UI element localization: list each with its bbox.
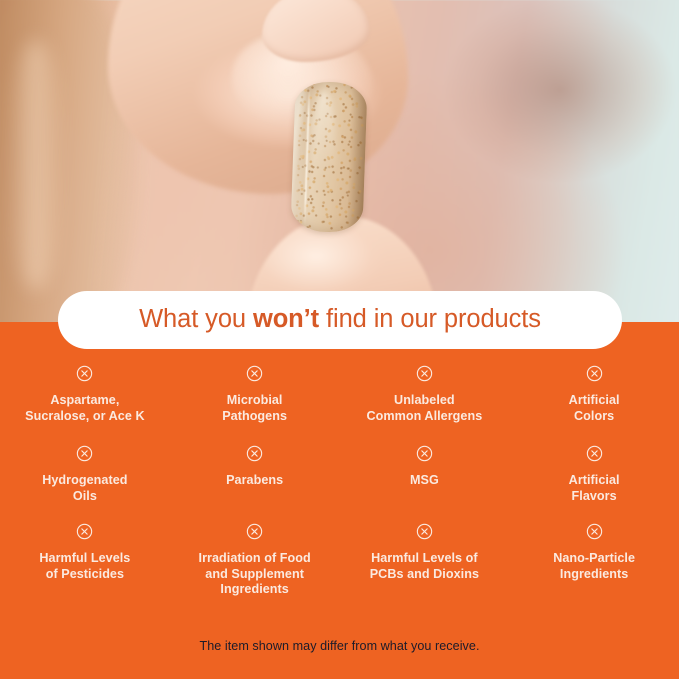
circle-x-icon [246, 523, 263, 540]
claim-label: Nano-Particle Ingredients [553, 551, 635, 582]
claim-item: Irradiation of Food and Supplement Ingre… [170, 523, 340, 615]
claim-item: MSG [340, 445, 510, 523]
claim-item: Aspartame, Sucralose, or Ace K [0, 365, 170, 445]
claim-item: Artificial Colors [509, 365, 679, 445]
circle-x-icon [586, 445, 603, 462]
headline-suffix: find in our products [319, 305, 541, 333]
headline-pill: What you won’t find in our products [58, 291, 622, 349]
left-finger-highlight [8, 40, 64, 290]
circle-x-icon [76, 445, 93, 462]
claims-grid: Aspartame, Sucralose, or Ace K Microbial… [0, 365, 679, 615]
claim-item: Hydrogenated Oils [0, 445, 170, 523]
claim-label: Harmful Levels of Pesticides [39, 551, 130, 582]
circle-x-icon [76, 523, 93, 540]
circle-x-icon [246, 365, 263, 382]
claim-label: Irradiation of Food and Supplement Ingre… [199, 551, 311, 598]
claim-item: Harmful Levels of PCBs and Dioxins [340, 523, 510, 615]
circle-x-icon [586, 523, 603, 540]
circle-x-icon [416, 445, 433, 462]
claim-label: MSG [410, 473, 439, 489]
circle-x-icon [246, 445, 263, 462]
claim-label: Artificial Flavors [569, 473, 620, 504]
claim-label: Artificial Colors [569, 393, 620, 424]
product-claims-panel: What you won’t find in our products Aspa… [0, 0, 679, 679]
disclaimer-text: The item shown may differ from what you … [0, 639, 679, 653]
circle-x-icon [416, 365, 433, 382]
hero-photo [0, 0, 679, 322]
claim-item: Harmful Levels of Pesticides [0, 523, 170, 615]
headline-emphasis: won’t [253, 305, 319, 333]
claim-label: Microbial Pathogens [222, 393, 287, 424]
claim-label: Harmful Levels of PCBs and Dioxins [370, 551, 479, 582]
page-title: What you won’t find in our products [139, 307, 541, 333]
headline-prefix: What you [139, 305, 253, 333]
claim-label: Unlabeled Common Allergens [366, 393, 482, 424]
claim-label: Hydrogenated Oils [42, 473, 127, 504]
circle-x-icon [76, 365, 93, 382]
claim-item: Microbial Pathogens [170, 365, 340, 445]
claim-item: Artificial Flavors [509, 445, 679, 523]
claim-label: Aspartame, Sucralose, or Ace K [25, 393, 144, 424]
supplement-tablet [290, 81, 367, 233]
claim-label: Parabens [226, 473, 283, 489]
circle-x-icon [586, 365, 603, 382]
claim-item: Parabens [170, 445, 340, 523]
claim-item: Nano-Particle Ingredients [509, 523, 679, 615]
circle-x-icon [416, 523, 433, 540]
claim-item: Unlabeled Common Allergens [340, 365, 510, 445]
